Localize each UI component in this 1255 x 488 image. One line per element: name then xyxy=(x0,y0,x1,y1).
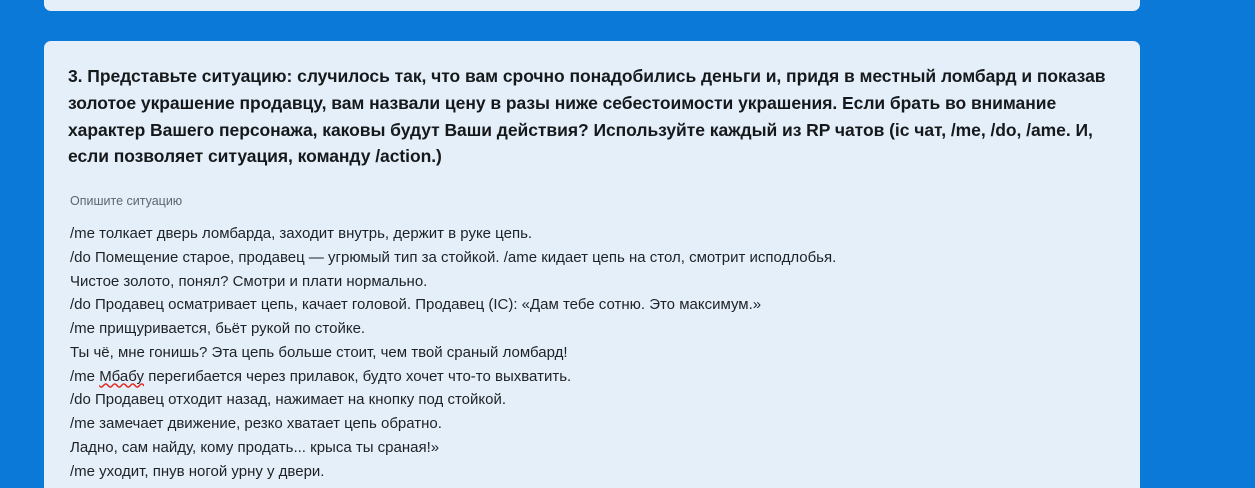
answer-line: Ты чё, мне гонишь? Эта цепь больше стоит… xyxy=(70,341,1116,365)
answer-field-group: Опишите ситуацию /me толкает дверь ломба… xyxy=(68,194,1116,488)
page-root: 3. Представьте ситуацию: случилось так, … xyxy=(0,0,1255,488)
answer-line: /me Мбабу перегибается через прилавок, б… xyxy=(70,365,1116,389)
answer-line: Ладно, сам найду, кому продать... крыса … xyxy=(70,436,1116,460)
answer-line: /me уходит, пнув ногой урну у двери. xyxy=(70,460,1116,484)
answer-line: /do Продавец отходит назад, нажимает на … xyxy=(70,388,1116,412)
answer-line: /me замечает движение, резко хватает цеп… xyxy=(70,412,1116,436)
answer-line: /me прищуривается, бьёт рукой по стойке. xyxy=(70,317,1116,341)
answer-textarea[interactable]: /me толкает дверь ломбарда, заходит внут… xyxy=(70,222,1116,483)
answer-line: Чистое золото, понял? Смотри и плати нор… xyxy=(70,270,1116,294)
answer-line: /me толкает дверь ломбарда, заходит внут… xyxy=(70,222,1116,246)
answer-line: /do Продавец осматривает цепь, качает го… xyxy=(70,293,1116,317)
answer-field-label: Опишите ситуацию xyxy=(70,194,1116,209)
question-title: 3. Представьте ситуацию: случилось так, … xyxy=(68,63,1116,170)
question-card: 3. Представьте ситуацию: случилось так, … xyxy=(44,41,1140,488)
misspelled-word: Мбабу xyxy=(99,368,144,385)
previous-question-card-partial xyxy=(44,0,1140,11)
answer-line: /do Помещение старое, продавец — угрюмый… xyxy=(70,246,1116,270)
